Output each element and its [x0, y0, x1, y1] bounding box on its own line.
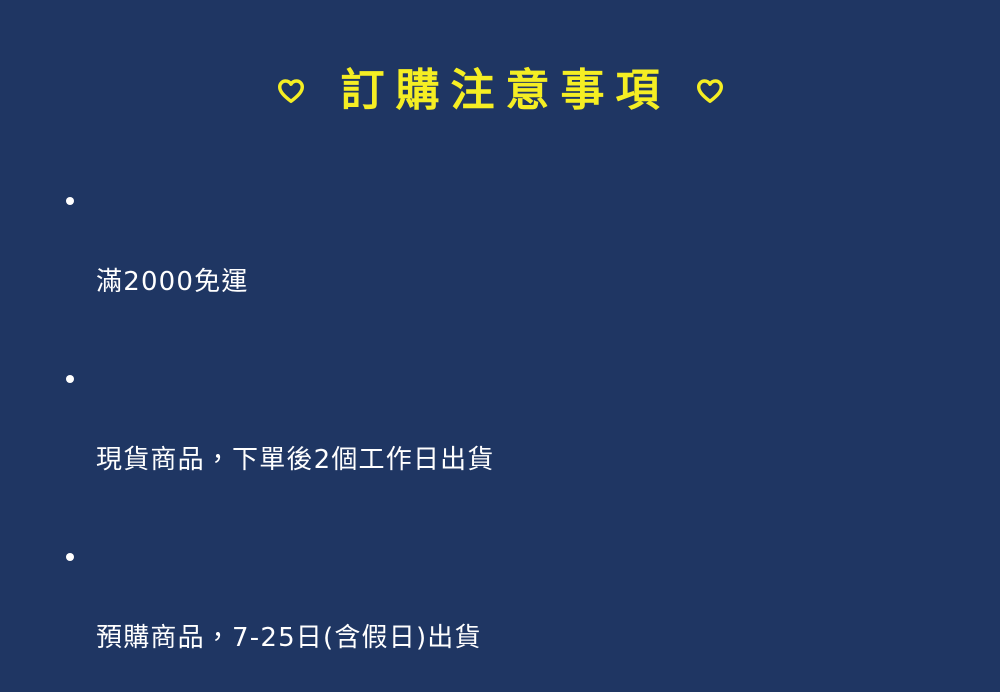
bullet-icon	[66, 375, 74, 383]
bullet-icon	[66, 197, 74, 205]
heart-icon	[278, 78, 304, 104]
list-item: 預購商品，7-25日(含假日)出貨	[62, 536, 962, 692]
list-item-text: 預購商品，7-25日(含假日)出貨	[96, 618, 962, 659]
list-item-text: 滿2000免運	[96, 262, 962, 303]
list-item: 現貨商品，下單後2個工作日出貨	[62, 358, 962, 522]
order-notice-card: 訂購注意事項 滿2000免運 現貨商品，下單後2個工作日出貨 預購商品，7-25…	[0, 0, 1000, 692]
page-title: 訂購注意事項	[330, 66, 671, 117]
notice-list: 滿2000免運 現貨商品，下單後2個工作日出貨 預購商品，7-25日(含假日)出…	[62, 180, 962, 692]
bullet-icon	[66, 553, 74, 561]
list-item-text: 現貨商品，下單後2個工作日出貨	[96, 440, 962, 481]
title-row: 訂購注意事項	[0, 66, 1000, 117]
heart-icon	[697, 78, 723, 104]
list-item: 滿2000免運	[62, 180, 962, 344]
